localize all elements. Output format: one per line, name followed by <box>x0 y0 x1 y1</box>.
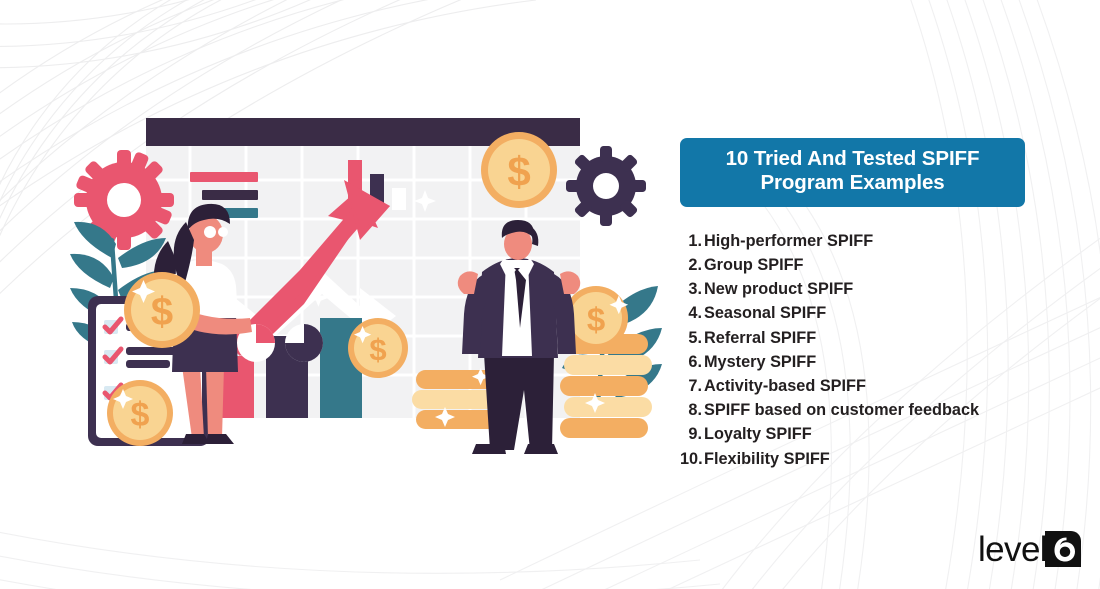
list-item: 3. New product SPIFF <box>704 277 1025 301</box>
logo-six-mark <box>1045 531 1081 567</box>
list-item: 7. Activity-based SPIFF <box>704 374 1025 398</box>
list-item: 1. High-performer SPIFF <box>704 229 1025 253</box>
infographic-canvas: $ <box>0 0 1100 589</box>
list-item: 10. Flexibility SPIFF <box>704 447 1025 471</box>
coin-center: $ <box>348 318 408 378</box>
list-item-number: 5. <box>680 326 702 350</box>
list-item-label: New product SPIFF <box>704 280 853 298</box>
list-item: 2. Group SPIFF <box>704 253 1025 277</box>
pie-chart-3 <box>285 324 323 362</box>
logo-wordmark: level <box>978 532 1047 567</box>
list-item: 4. Seasonal SPIFF <box>704 301 1025 325</box>
list-item-number: 7. <box>680 374 702 398</box>
svg-text:$: $ <box>587 301 605 338</box>
title-line-2: Program Examples <box>690 171 1015 195</box>
list-item-number: 1. <box>680 229 702 253</box>
list-item: 8. SPIFF based on customer feedback <box>704 398 1025 422</box>
coin-woman-hands: $ <box>124 272 200 348</box>
spiff-illustration: $ <box>60 118 670 463</box>
list-item-number: 10. <box>680 447 702 471</box>
list-item-label: Mystery SPIFF <box>704 353 816 371</box>
list-item-number: 4. <box>680 301 702 325</box>
title-banner: 10 Tried And Tested SPIFF Program Exampl… <box>680 138 1025 207</box>
list-item-number: 6. <box>680 350 702 374</box>
brand-logo: level <box>978 531 1081 567</box>
coin-man-overhead: $ <box>481 132 557 208</box>
content-column: 10 Tried And Tested SPIFF Program Exampl… <box>680 138 1025 471</box>
list-item-label: Loyalty SPIFF <box>704 425 812 443</box>
gear-icon-dark <box>566 146 646 226</box>
list-item: 9. Loyalty SPIFF <box>704 422 1025 446</box>
list-item-label: Referral SPIFF <box>704 329 816 347</box>
list-item-number: 3. <box>680 277 702 301</box>
list-item: 5. Referral SPIFF <box>704 326 1025 350</box>
list-item-label: SPIFF based on customer feedback <box>704 401 979 419</box>
list-item: 6. Mystery SPIFF <box>704 350 1025 374</box>
list-item-label: Group SPIFF <box>704 256 804 274</box>
list-item-label: Flexibility SPIFF <box>704 450 830 468</box>
list-item-number: 9. <box>680 422 702 446</box>
coin-lower-left: $ <box>107 380 173 446</box>
title-line-1: 10 Tried And Tested SPIFF <box>690 147 1015 171</box>
list-item-number: 2. <box>680 253 702 277</box>
svg-text:$: $ <box>369 332 386 367</box>
list-item-number: 8. <box>680 398 702 422</box>
list-item-label: Activity-based SPIFF <box>704 377 866 395</box>
svg-text:$: $ <box>151 290 173 334</box>
svg-text:$: $ <box>507 148 530 195</box>
list-item-label: High-performer SPIFF <box>704 232 873 250</box>
list-item-label: Seasonal SPIFF <box>704 304 826 322</box>
svg-text:$: $ <box>131 396 150 434</box>
spiff-examples-list: 1. High-performer SPIFF 2. Group SPIFF 3… <box>680 229 1025 471</box>
